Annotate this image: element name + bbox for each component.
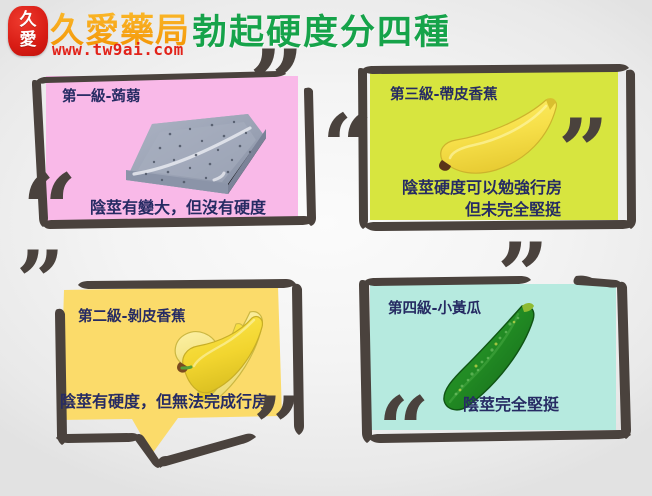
logo-char-top: 久 [8,12,48,29]
quote-open-panel-4: “ [378,398,430,463]
panel-3-title: 第三級-帶皮香蕉 [390,83,498,104]
panel-4-title: 第四級-小黃瓜 [388,297,481,318]
page-title: 勃起硬度分四種 [192,4,451,55]
panel-3-caption-line-2: 但未完全堅挺 [465,196,561,220]
panel-4-caption-line-1: 陰莖完全堅挺 [463,391,559,415]
panel-3-caption-line-1: 陰莖硬度可以勉強行房 [402,174,562,198]
quote-close-panel-1: ” [249,51,304,120]
quote-close-panel-4: ” [497,244,549,309]
panel-2-caption-line-1: 陰莖有硬度，但無法完成行房 [60,388,268,412]
logo-char-bottom: 愛 [8,32,48,49]
panel-1-title: 第一級-蒟蒻 [62,85,141,106]
brand-logo-stamp: 久 愛 [8,6,48,56]
infographic-canvas: 久 愛 久愛藥局 www.tw9ai.com 勃起硬度分四種 [0,0,652,496]
quote-close-panel-3: ” [558,120,609,183]
quote-close-panel-2-lower: ” [253,398,301,458]
brand-url: www.tw9ai.com [52,40,184,59]
panel-2-title: 第二級-剝皮香蕉 [78,305,186,326]
panel-1-caption-line-1: 陰莖有變大，但沒有硬度 [90,194,266,218]
quote-open-panel-3: “ [322,115,373,178]
header: 久 愛 久愛藥局 www.tw9ai.com 勃起硬度分四種 [0,0,652,62]
quote-close-panel-2: ” [16,252,64,312]
